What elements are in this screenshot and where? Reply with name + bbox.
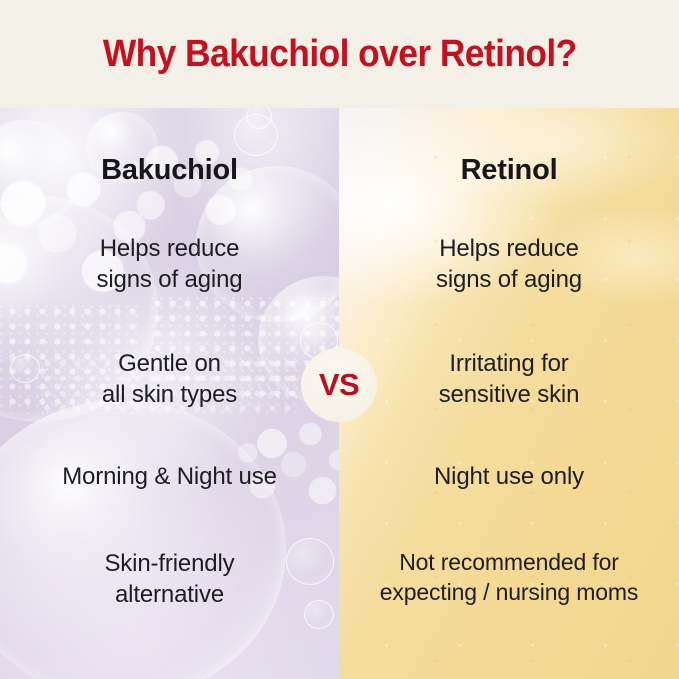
feature-line: Helps reducesigns of aging [436, 235, 582, 293]
feature-line: Skin-friendlyalternative [104, 550, 234, 608]
infographic-root: Why Bakuchiol over Retinol? [0, 0, 679, 679]
feature-line: Night use only [434, 463, 584, 490]
header-bar: Why Bakuchiol over Retinol? [0, 0, 679, 108]
feature-retinol-3: Night use only [347, 461, 671, 492]
retinol-content: Retinol Helps reducesigns of aging Irrit… [339, 108, 679, 679]
feature-line: Morning & Night use [62, 463, 277, 490]
feature-bakuchiol-3: Morning & Night use [8, 461, 331, 492]
vs-badge: VS [301, 348, 377, 422]
column-retinol: Retinol Helps reducesigns of aging Irrit… [339, 108, 679, 679]
feature-line: Helps reducesigns of aging [96, 235, 242, 293]
feature-line: Irritating forsensitive skin [439, 350, 580, 408]
feature-line: Not recommended forexpecting / nursing m… [380, 549, 638, 605]
vs-label: VS [319, 369, 359, 400]
page-title: Why Bakuchiol over Retinol? [103, 35, 577, 73]
column-bakuchiol: Bakuchiol Helps reducesigns of aging Gen… [0, 108, 339, 679]
column-heading-bakuchiol: Bakuchiol [0, 156, 339, 185]
feature-line: Gentle onall skin types [102, 350, 237, 408]
feature-bakuchiol-2: Gentle onall skin types [8, 348, 331, 410]
feature-bakuchiol-1: Helps reducesigns of aging [8, 233, 331, 295]
column-heading-retinol: Retinol [339, 156, 679, 185]
feature-retinol-4: Not recommended forexpecting / nursing m… [347, 548, 671, 608]
feature-retinol-1: Helps reducesigns of aging [347, 233, 671, 295]
bakuchiol-content: Bakuchiol Helps reducesigns of aging Gen… [0, 108, 339, 679]
feature-retinol-2: Irritating forsensitive skin [347, 348, 671, 410]
feature-bakuchiol-4: Skin-friendlyalternative [8, 548, 331, 610]
